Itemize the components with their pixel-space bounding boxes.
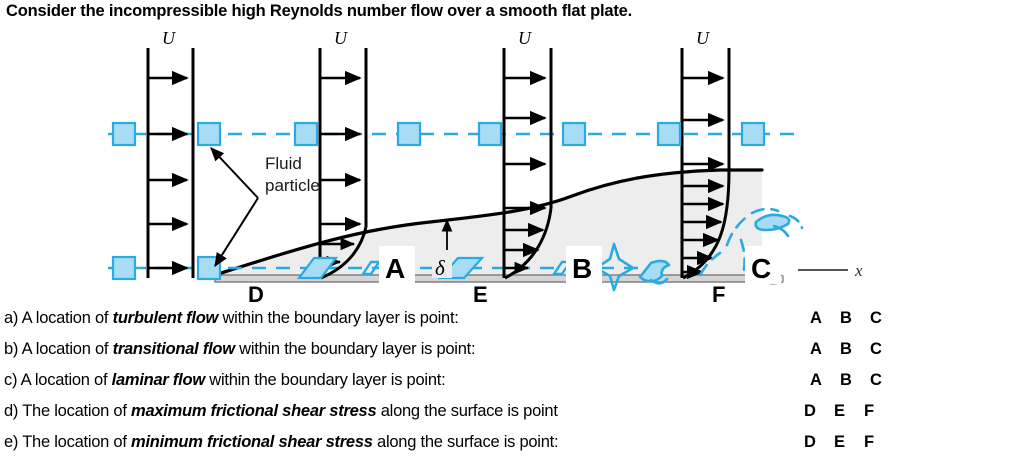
question-list: a) A location of turbulent flow within t… xyxy=(0,306,1024,461)
question-c-text: c) A location of laminar flow within the… xyxy=(4,371,445,390)
choice-e-3[interactable]: F xyxy=(864,433,874,452)
boundary-layer-diagram: U U xyxy=(0,30,1024,305)
choice-b-3[interactable]: C xyxy=(870,340,882,359)
region-label-a-text: A xyxy=(385,253,405,284)
station-label-d: D xyxy=(248,282,264,305)
choices-d: DEF xyxy=(804,402,874,421)
question-c-emphasis: laminar flow xyxy=(112,371,205,389)
question-a-prefix: a) A location of xyxy=(4,309,113,327)
choice-d-3[interactable]: F xyxy=(864,402,874,421)
choice-a-3[interactable]: C xyxy=(870,309,882,328)
choice-e-1[interactable]: D xyxy=(804,433,834,452)
choices-e: DEF xyxy=(804,433,874,452)
choice-d-1[interactable]: D xyxy=(804,402,834,421)
station-label-f: F xyxy=(712,282,725,305)
question-e-suffix: along the surface is point: xyxy=(373,433,559,451)
question-a-text: a) A location of turbulent flow within t… xyxy=(4,309,459,328)
question-c-prefix: c) A location of xyxy=(4,371,112,389)
region-label-a: A xyxy=(379,246,415,284)
question-row-b: b) A location of transitional flow withi… xyxy=(4,337,1020,368)
question-b-prefix: b) A location of xyxy=(4,340,113,358)
question-e-emphasis: minimum frictional shear stress xyxy=(131,433,373,451)
region-label-b-text: B xyxy=(572,253,592,284)
fluid-particle-label-line2: particle xyxy=(265,176,320,195)
question-b-emphasis: transitional flow xyxy=(113,340,235,358)
choice-c-2[interactable]: B xyxy=(840,371,870,390)
velocity-profile-station-upstream: U xyxy=(148,30,193,278)
choices-a: ABC xyxy=(810,309,882,328)
freestream-label-g: U xyxy=(696,30,710,48)
freestream-label-e: U xyxy=(334,30,348,48)
bl-thickness-label: δ xyxy=(435,256,446,280)
x-axis-label: x xyxy=(854,261,863,280)
question-a-suffix: within the boundary layer is point: xyxy=(218,309,458,327)
question-c-suffix: within the boundary layer is point: xyxy=(205,371,445,389)
question-d-suffix: along the surface is point xyxy=(376,402,557,420)
fluid-particle-annotation-leaders xyxy=(211,148,258,266)
fluid-particles-upper xyxy=(113,123,764,145)
x-axis: x xyxy=(798,261,863,280)
question-e-prefix: e) The location of xyxy=(4,433,131,451)
question-b-text: b) A location of transitional flow withi… xyxy=(4,340,475,359)
page-title: Consider the incompressible high Reynold… xyxy=(6,2,632,21)
region-label-c-text: C xyxy=(751,253,771,284)
choice-d-2[interactable]: E xyxy=(834,402,864,421)
question-d-emphasis: maximum frictional shear stress xyxy=(131,402,376,420)
choice-c-3[interactable]: C xyxy=(870,371,882,390)
choice-a-2[interactable]: B xyxy=(840,309,870,328)
question-row-c: c) A location of laminar flow within the… xyxy=(4,368,1020,399)
question-row-e: e) The location of minimum frictional sh… xyxy=(4,430,1020,461)
choice-b-2[interactable]: B xyxy=(840,340,870,359)
question-e-text: e) The location of minimum frictional sh… xyxy=(4,433,558,452)
choices-b: ABC xyxy=(810,340,882,359)
question-b-suffix: within the boundary layer is point: xyxy=(235,340,475,358)
freestream-label-d: U xyxy=(162,30,176,48)
fluid-particle-label-line1: Fluid xyxy=(265,154,302,173)
freestream-label-f: U xyxy=(518,30,532,48)
choice-a-1[interactable]: A xyxy=(810,309,840,328)
choice-c-1[interactable]: A xyxy=(810,371,840,390)
question-a-emphasis: turbulent flow xyxy=(113,309,219,327)
choice-b-1[interactable]: A xyxy=(810,340,840,359)
slide-page: Consider the incompressible high Reynold… xyxy=(0,0,1024,467)
station-label-e: E xyxy=(473,282,488,305)
question-row-a: a) A location of turbulent flow within t… xyxy=(4,306,1020,337)
question-row-d: d) The location of maximum frictional sh… xyxy=(4,399,1020,430)
choice-e-2[interactable]: E xyxy=(834,433,864,452)
question-d-prefix: d) The location of xyxy=(4,402,131,420)
choices-c: ABC xyxy=(810,371,882,390)
region-label-c: C xyxy=(745,246,781,284)
question-d-text: d) The location of maximum frictional sh… xyxy=(4,402,558,421)
region-label-b: B xyxy=(566,246,602,284)
